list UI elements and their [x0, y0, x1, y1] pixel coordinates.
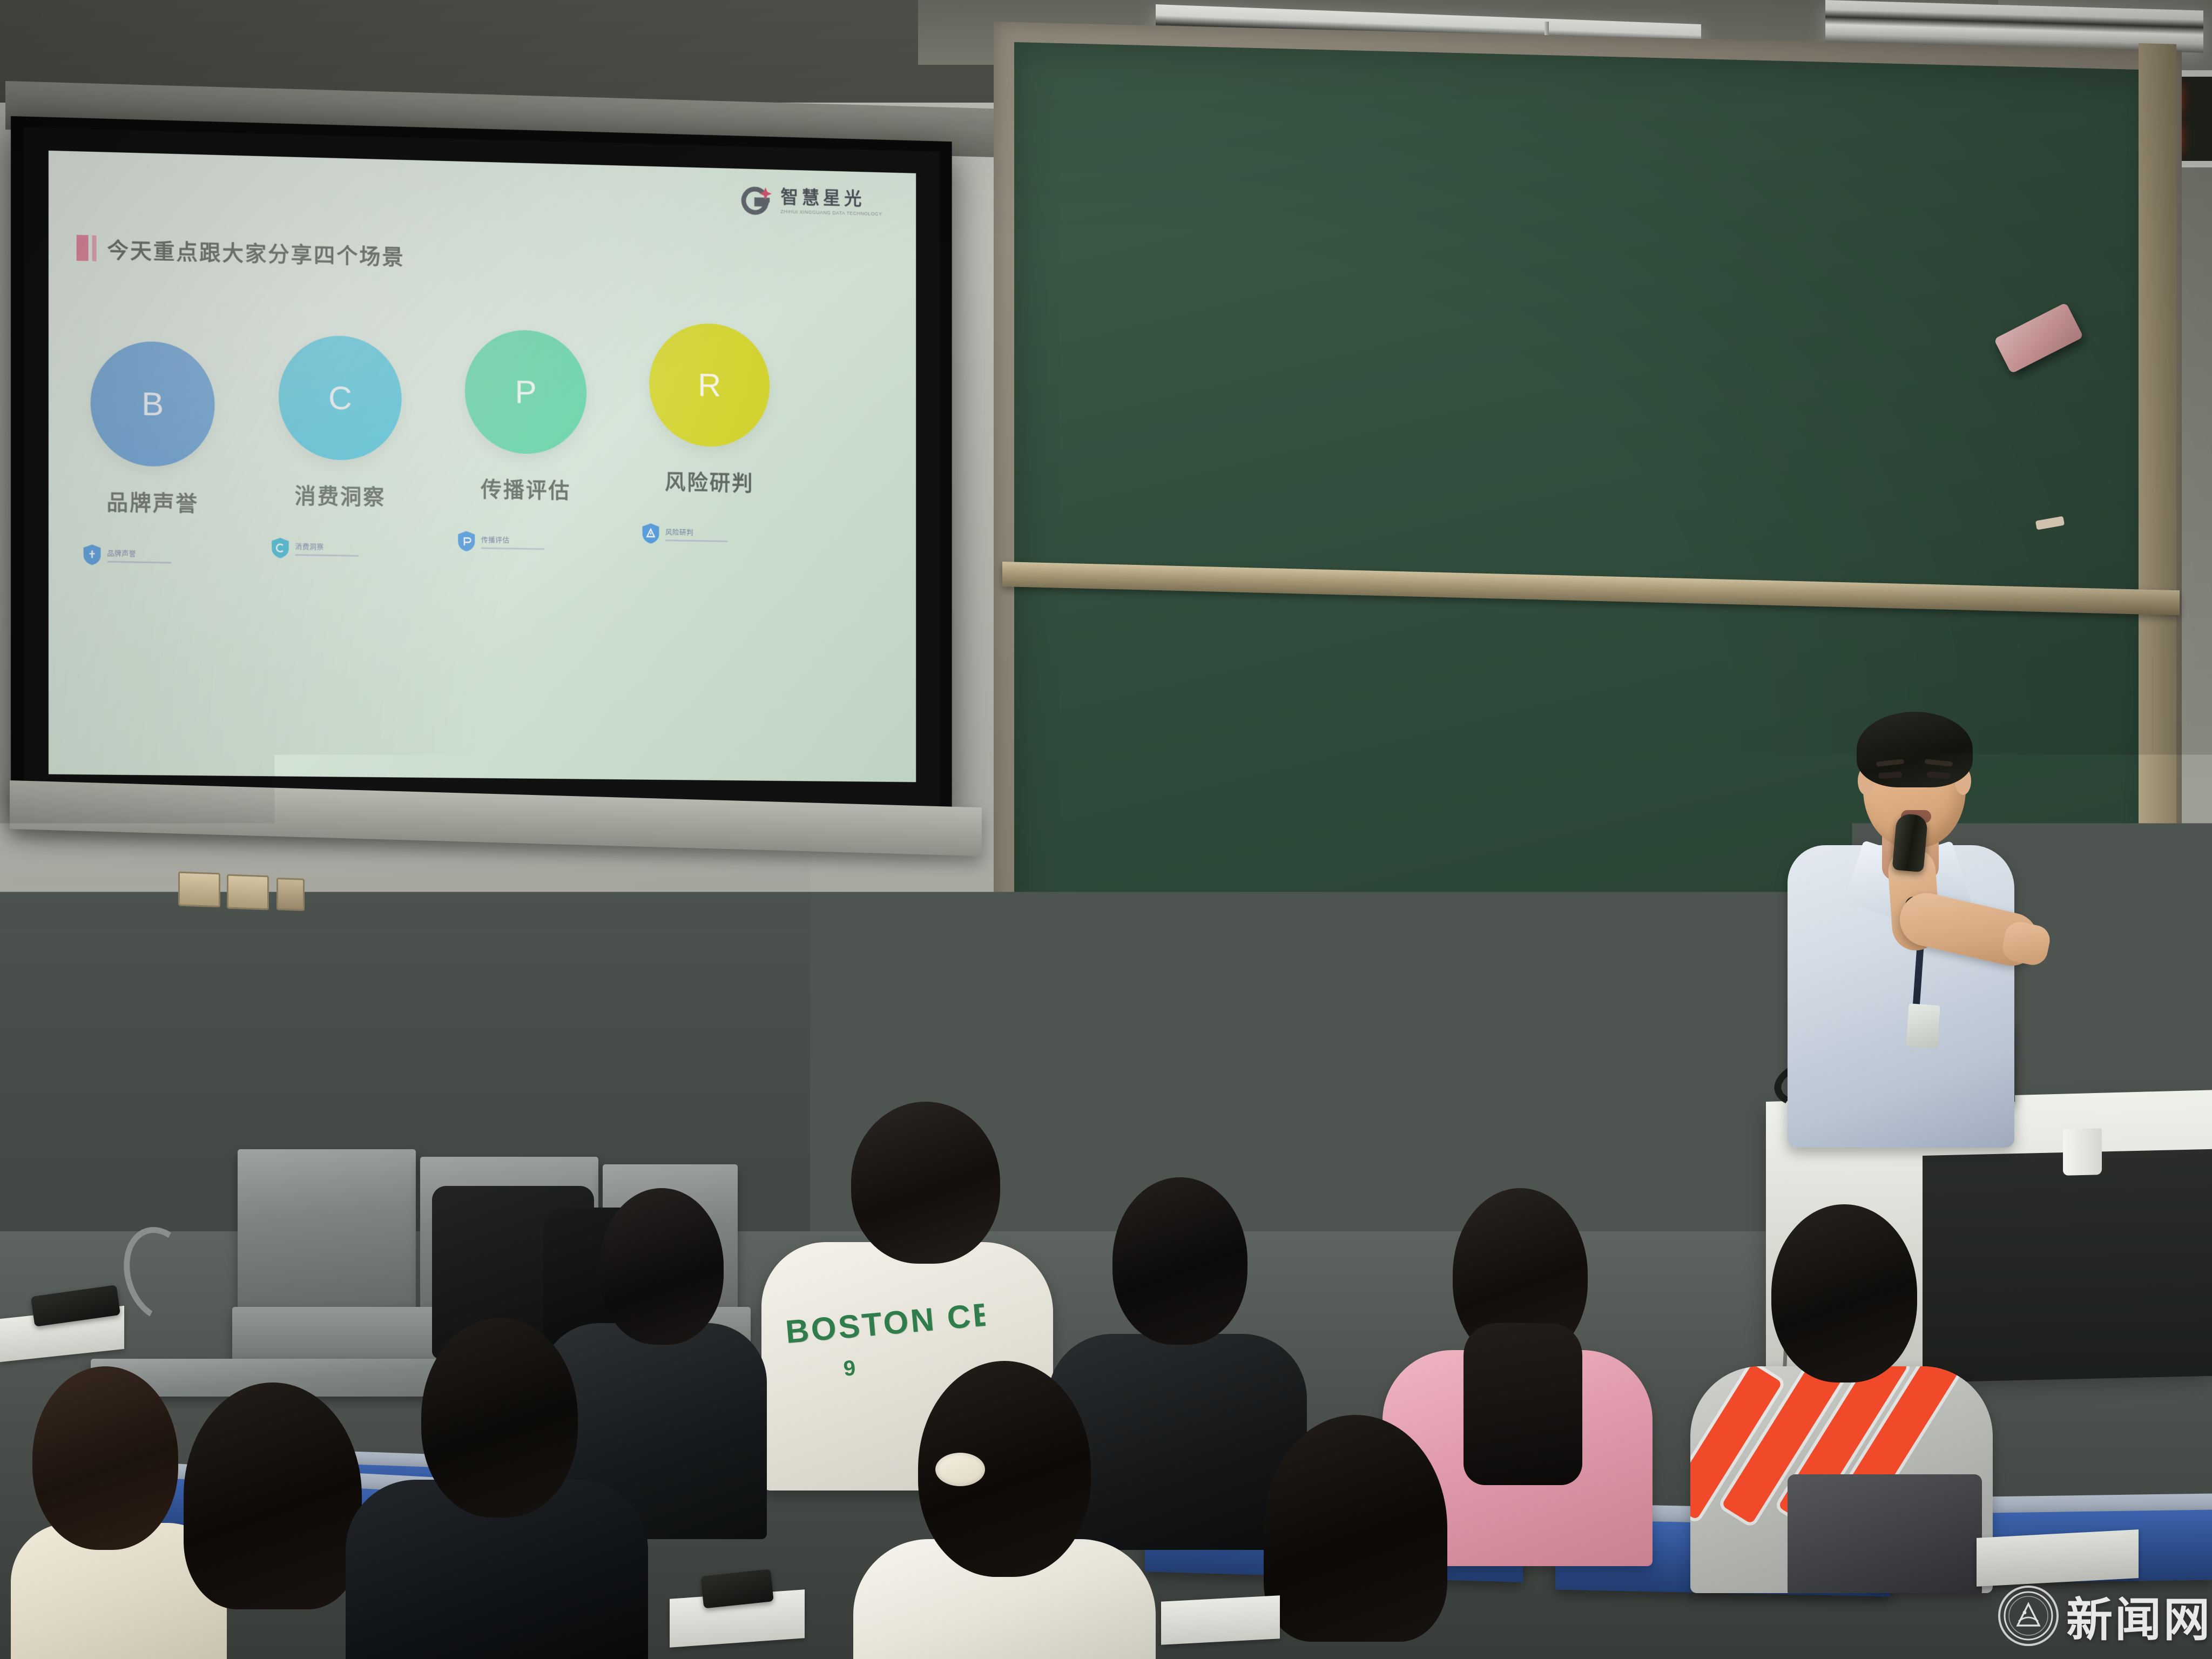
slide-logo: 智慧星光 ZHIHUI XINGGUANG DATA TECHNOLOGY [739, 183, 882, 221]
presentation-slide: 智慧星光 ZHIHUI XINGGUANG DATA TECHNOLOGY 今天… [49, 151, 916, 782]
scenario-bubble: C [279, 335, 402, 461]
scenario-badge: 传播评估 [457, 530, 594, 554]
water-bottle [1889, 1534, 1929, 1658]
hair-scrunchie [935, 1453, 985, 1486]
bench-seat-back [238, 1149, 416, 1311]
scenario-item-risk-assessment: R 风险研判 风险研判 [642, 322, 777, 546]
audience-head [32, 1366, 178, 1550]
scenario-badge-text: 品牌声誉 [107, 548, 136, 558]
scenario-badge-text-group: 风险研判 [665, 527, 727, 542]
audience-member [346, 1318, 648, 1659]
scenario-badge-text-group: 传播评估 [481, 534, 544, 550]
shield-icon [83, 544, 102, 565]
audience-head [184, 1382, 362, 1609]
scenario-label: 品牌声誉 [83, 484, 222, 518]
scenario-badge-underline [665, 539, 727, 542]
scenario-badge-text: 消费洞察 [295, 541, 323, 551]
scenario-label: 传播评估 [457, 472, 594, 505]
audience-member-striped [1690, 1204, 1993, 1582]
scenario-bubble: P [465, 329, 586, 455]
logo-brand-en: ZHIHUI XINGGUANG DATA TECHNOLOGY [781, 209, 882, 216]
scenario-letter: P [515, 373, 537, 411]
scenario-letter: R [698, 366, 721, 404]
audience-head [851, 1102, 1000, 1264]
water-bottle-cap [1894, 1519, 1924, 1538]
audience-member-scrunchie [853, 1361, 1156, 1659]
shield-icon [271, 537, 289, 559]
scenario-circles-row: B 品牌声誉 品牌声誉 [83, 340, 862, 652]
audience-head [1771, 1204, 1917, 1382]
scenario-badge: 品牌声誉 [83, 544, 222, 568]
slide-title: 今天重点跟大家分享四个场景 [107, 233, 404, 271]
scenario-item-consumer-insight: C 消费洞察 消费洞察 [271, 334, 409, 561]
scenario-badge-text: 传播评估 [481, 534, 510, 545]
chalkboard-right-edge [2139, 43, 2176, 1016]
scenario-letter: B [141, 385, 164, 423]
presenter-id-badge [1906, 1003, 1940, 1049]
scenario-label: 风险研判 [642, 464, 777, 497]
presenter-hair [1857, 712, 1973, 787]
projection-screen: 智慧星光 ZHIHUI XINGGUANG DATA TECHNOLOGY 今天… [11, 116, 952, 820]
notebook [1161, 1595, 1280, 1645]
shield-icon [642, 523, 660, 544]
scenario-badge-text: 风险研判 [665, 527, 693, 537]
scenario-badge: 消费洞察 [271, 537, 409, 561]
slide-title-row: 今天重点跟大家分享四个场景 [77, 232, 405, 271]
scenario-item-communication-evaluation: P 传播评估 传播评估 [457, 329, 594, 554]
scenario-label: 消费洞察 [271, 478, 409, 511]
audience-head [1264, 1415, 1447, 1642]
scenario-badge-text-group: 消费洞察 [295, 541, 359, 557]
scenario-item-brand-reputation: B 品牌声誉 品牌声誉 [83, 340, 222, 568]
scenario-letter: C [328, 379, 352, 417]
paper-cup [2063, 1128, 2102, 1176]
shirt-graphic-panel [1788, 1474, 1982, 1593]
presenter [1771, 691, 2052, 1139]
scenario-badge-text-group: 品牌声誉 [107, 548, 171, 564]
shirt-team-text: BOSTON CELTICS [784, 1296, 987, 1351]
audience-head [1112, 1177, 1247, 1345]
notebook [1977, 1529, 2139, 1587]
logo-brand-cn: 智慧星光 [781, 188, 882, 208]
scenario-badge-underline [481, 547, 544, 550]
title-accent-marker-icon [77, 235, 97, 261]
scenario-badge-underline [295, 554, 359, 557]
lecture-hall-photo: 智慧星光 ZHIHUI XINGGUANG DATA TECHNOLOGY 今天… [0, 0, 2212, 1659]
audience-shirt [1690, 1366, 1993, 1593]
scenario-bubble: B [91, 340, 215, 468]
screen-bezel: 智慧星光 ZHIHUI XINGGUANG DATA TECHNOLOGY 今天… [24, 127, 940, 808]
audience-head [421, 1318, 578, 1518]
scenario-badge-underline [107, 561, 171, 564]
logo-wordmark: 智慧星光 ZHIHUI XINGGUANG DATA TECHNOLOGY [781, 188, 882, 217]
scenario-badge: 风险研判 [642, 523, 777, 546]
shield-icon [457, 530, 475, 552]
handheld-microphone [1892, 813, 1928, 873]
scenario-bubble: R [649, 322, 770, 448]
logo-g-mark-icon [739, 183, 773, 218]
